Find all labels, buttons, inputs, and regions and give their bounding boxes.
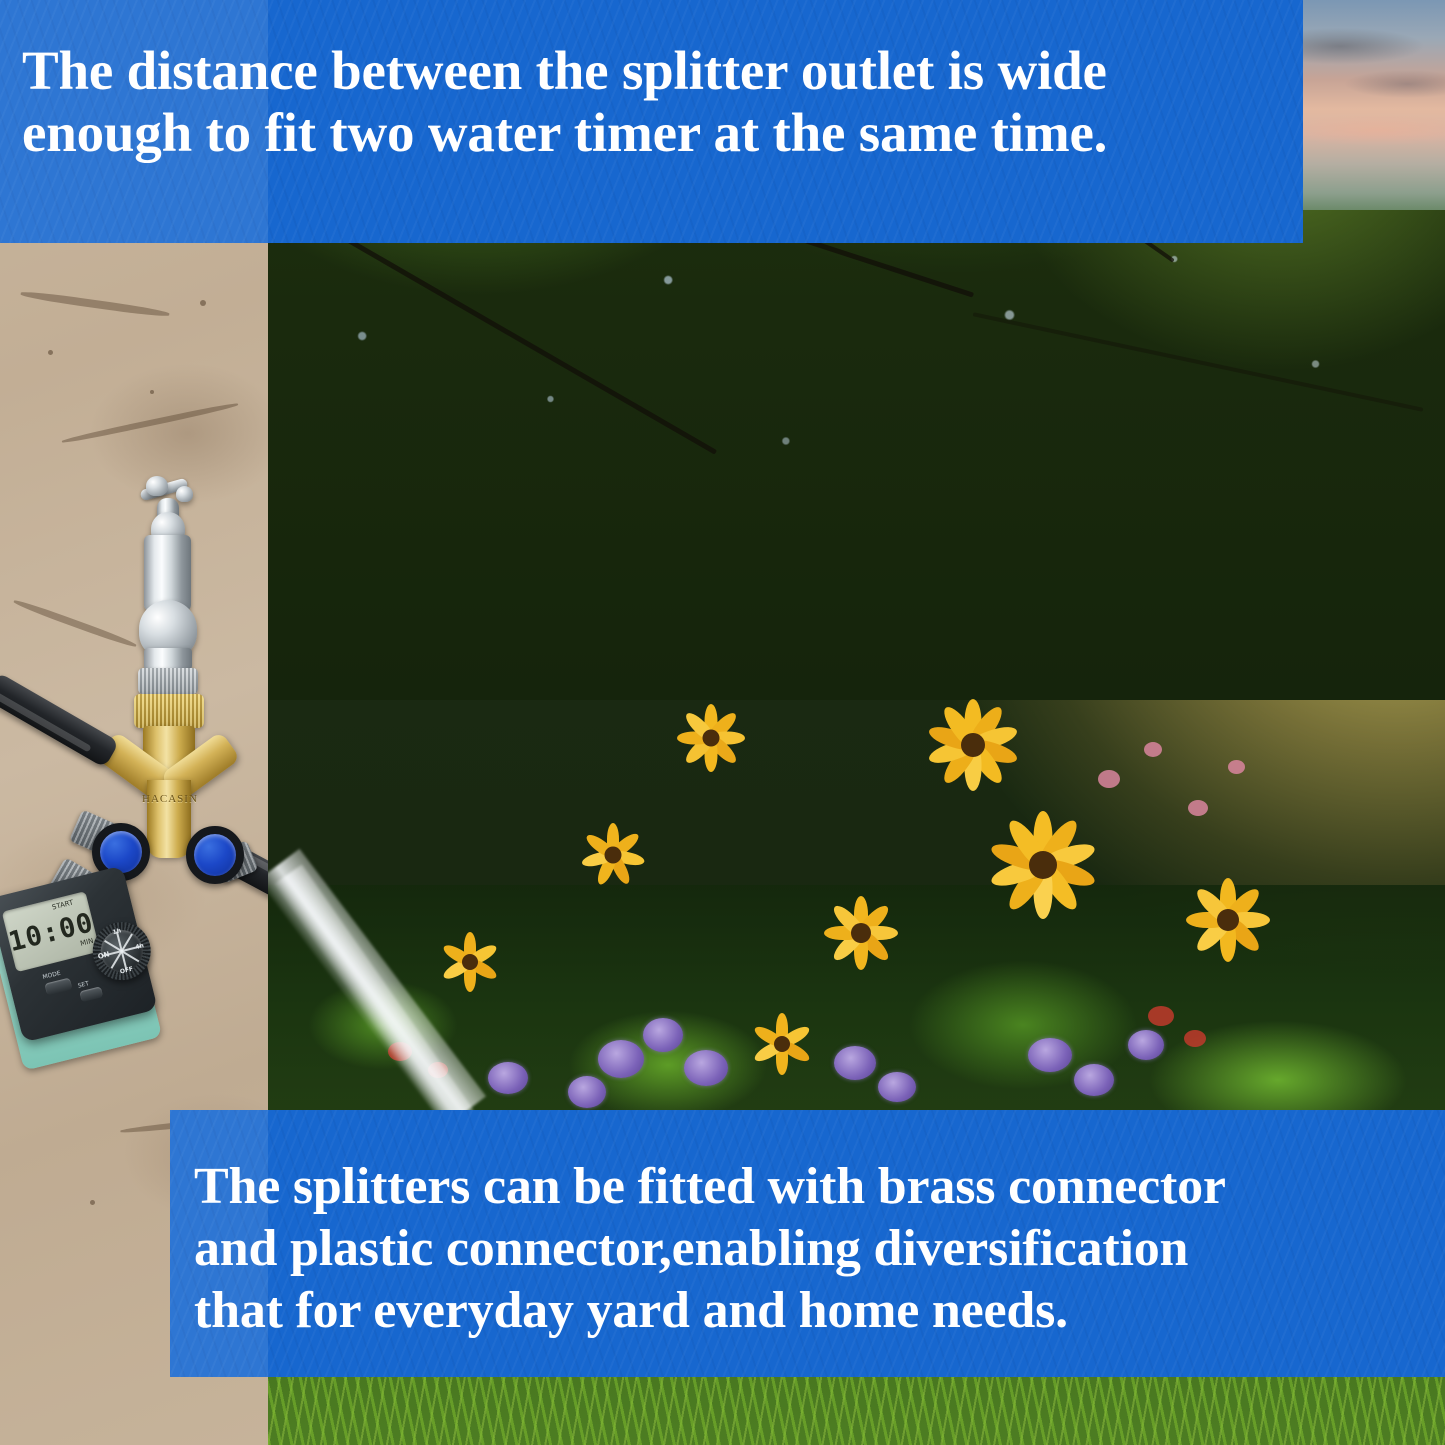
faucet-handle-knob[interactable] xyxy=(146,476,168,496)
purple-flower xyxy=(643,1018,683,1052)
purple-flower xyxy=(488,1062,528,1094)
valve-lever-left[interactable] xyxy=(0,672,120,768)
yellow-flower xyxy=(663,690,759,786)
dial-label-4h: 4h xyxy=(135,942,145,951)
sand-texture xyxy=(20,290,170,319)
brass-splitter-center xyxy=(147,780,191,858)
bottom-banner-line-3: that for everyday yard and home needs. xyxy=(194,1280,1425,1342)
red-flower xyxy=(1184,1030,1206,1047)
brass-connector-nut[interactable] xyxy=(134,694,204,728)
timer-dial[interactable]: ON 4h OFF 1h xyxy=(87,916,157,986)
top-caption-banner: The distance between the splitter outlet… xyxy=(0,0,1303,243)
top-banner-line-1: The distance between the splitter outlet… xyxy=(22,40,1279,102)
bottom-banner-line-2: and plastic connector,enabling diversifi… xyxy=(194,1218,1425,1280)
sand-speck xyxy=(200,300,206,306)
lcd-start-tag: START xyxy=(51,899,74,912)
pink-flower xyxy=(1188,800,1208,816)
yellow-flower xyxy=(1168,860,1288,980)
yellow-flower xyxy=(738,1000,826,1088)
purple-flower xyxy=(834,1046,876,1080)
sand-speck xyxy=(150,390,154,394)
pink-flower xyxy=(1228,760,1245,774)
timer-lcd: START 10:00 MIN xyxy=(2,891,100,972)
lcd-time-readout: 10:00 xyxy=(6,907,97,958)
dial-label-off: OFF xyxy=(119,965,134,975)
faucet-handle-knob[interactable] xyxy=(176,486,193,502)
bottom-caption-banner: The splitters can be fitted with brass c… xyxy=(170,1110,1445,1377)
valve-knob-right[interactable] xyxy=(186,826,244,884)
purple-flower xyxy=(878,1072,916,1102)
yellow-flower xyxy=(968,790,1118,940)
faucet-collar xyxy=(144,648,192,670)
top-banner-line-2: enough to fit two water timer at the sam… xyxy=(22,102,1279,164)
yellow-flower xyxy=(568,810,658,900)
timer-mode-button[interactable] xyxy=(44,978,72,996)
sand-texture xyxy=(61,401,238,444)
purple-flower xyxy=(1028,1038,1072,1072)
sand-texture xyxy=(13,598,138,649)
purple-flower xyxy=(598,1040,644,1078)
purple-flower xyxy=(1128,1030,1164,1060)
red-flower xyxy=(1148,1006,1174,1026)
product-infographic-canvas: HACASIN START 10:00 MIN xyxy=(0,0,1445,1445)
yellow-flower xyxy=(808,880,913,985)
sand-speck xyxy=(90,1200,95,1205)
purple-flower xyxy=(1074,1064,1114,1096)
sand-speck xyxy=(48,350,53,355)
dusk-sky xyxy=(1295,0,1445,210)
purple-flower xyxy=(568,1076,606,1108)
pink-flower xyxy=(1098,770,1120,788)
plastic-connector[interactable] xyxy=(138,668,198,694)
yellow-flower xyxy=(428,920,512,1004)
bottom-banner-line-1: The splitters can be fitted with brass c… xyxy=(194,1156,1425,1218)
timer-set-button[interactable] xyxy=(79,986,103,1002)
pink-flower xyxy=(1144,742,1162,757)
purple-flower xyxy=(684,1050,728,1086)
brand-label: HACASIN xyxy=(142,793,198,805)
